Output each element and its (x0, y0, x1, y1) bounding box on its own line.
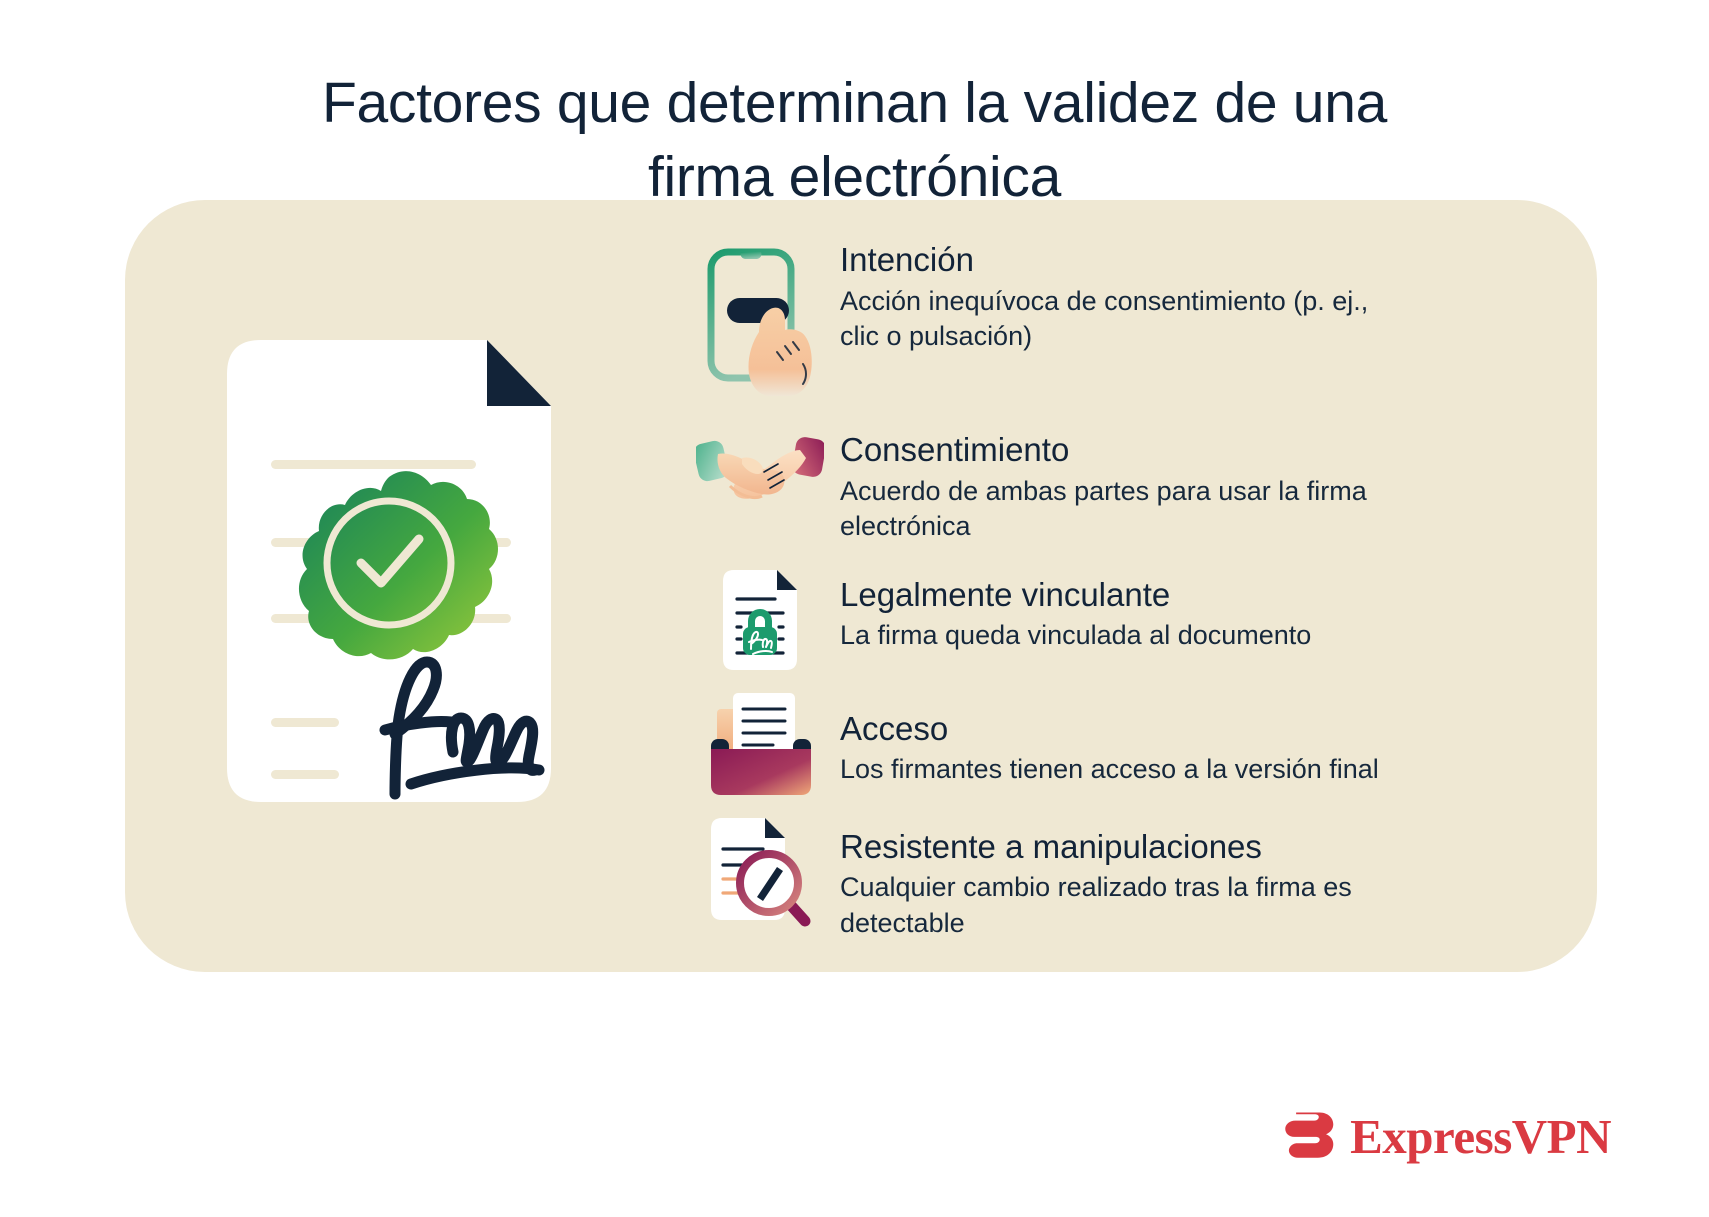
signed-document-illustration (199, 332, 579, 810)
factor-description: Acción inequívoca de consentimiento (p. … (840, 284, 1410, 355)
factor-text: Consentimiento Acuerdo de ambas partes p… (840, 428, 1470, 545)
brand-logo[interactable]: ExpressVPN (1278, 1107, 1611, 1165)
factor-description: La firma queda vinculada al documento (840, 618, 1410, 654)
brand-name: ExpressVPN (1350, 1112, 1611, 1161)
factor-item: Consentimiento Acuerdo de ambas partes p… (680, 428, 1470, 545)
factor-description: Los firmantes tienen acceso a la versión… (840, 752, 1410, 788)
factor-title: Intención (840, 240, 1470, 280)
factor-text: Intención Acción inequívoca de consentim… (840, 238, 1470, 355)
handshake-icon (680, 436, 840, 514)
factor-item: Resistente a manipulaciones Cualquier ca… (680, 823, 1470, 942)
factor-text: Resistente a manipulaciones Cualquier ca… (840, 823, 1470, 942)
factor-title: Legalmente vinculante (840, 575, 1470, 615)
expressvpn-e-mark (1278, 1107, 1336, 1165)
factor-text: Legalmente vinculante La firma queda vin… (840, 575, 1470, 654)
document-lock-icon (680, 569, 840, 671)
factor-text: Acceso Los firmantes tienen acceso a la … (840, 699, 1470, 788)
factor-item: Legalmente vinculante La firma queda vin… (680, 575, 1470, 671)
factor-title: Resistente a manipulaciones (840, 827, 1470, 867)
page-title: Factores que determinan la validez de un… (0, 66, 1709, 214)
factor-item: Acceso Los firmantes tienen acceso a la … (680, 699, 1470, 797)
factor-title: Acceso (840, 709, 1470, 749)
factor-description: Cualquier cambio realizado tras la firma… (840, 870, 1410, 941)
factor-list: Intención Acción inequívoca de consentim… (680, 238, 1470, 942)
phone-tap-icon (680, 246, 840, 396)
document-magnifier-icon (680, 817, 840, 927)
factor-title: Consentimiento (840, 430, 1470, 470)
factor-item: Intención Acción inequívoca de consentim… (680, 238, 1470, 396)
document-folder-icon (680, 691, 840, 797)
factor-description: Acuerdo de ambas partes para usar la fir… (840, 474, 1410, 545)
